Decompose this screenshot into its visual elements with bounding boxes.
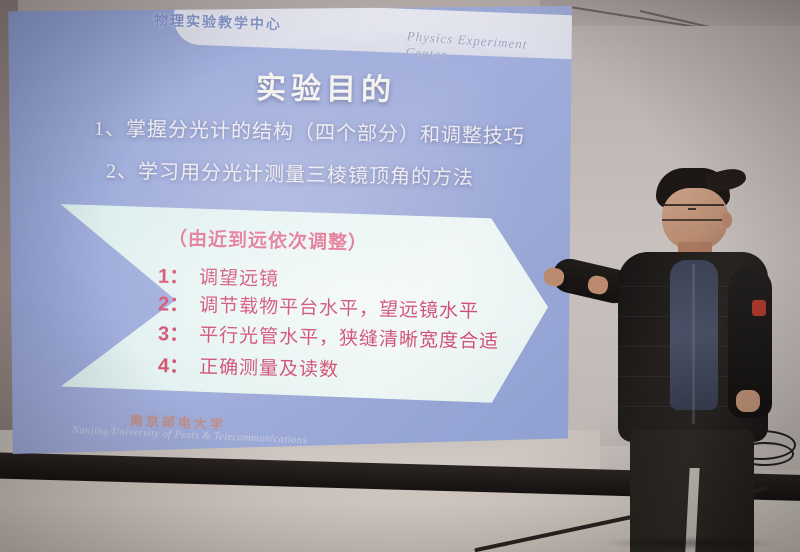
objective-1: 1、掌握分光计的结构（四个部分）和调整技巧 <box>94 112 525 149</box>
floor-shadow <box>600 536 780 550</box>
banner-heading: （由近到远依次调整） <box>168 224 369 256</box>
glasses-icon <box>662 204 724 221</box>
banner-step-4: 4： 正确测量及读数 <box>158 349 340 382</box>
banner-step-1-num: 1： <box>158 260 190 290</box>
banner-step-1: 1： 调望远镜 <box>158 260 280 292</box>
banner-step-1-text: 调望远镜 <box>199 263 280 292</box>
lecture-photo: 物理实验教学中心 Physics Experiment Center 实验目的 … <box>0 0 800 552</box>
banner-step-2-num: 2： <box>158 287 190 317</box>
banner-step-4-num: 4： <box>158 349 190 379</box>
presenter <box>596 168 774 552</box>
banner-step-3-num: 3： <box>158 317 190 347</box>
slide-header-cn: 物理实验教学中心 <box>154 10 283 35</box>
slide-title: 实验目的 <box>256 63 397 109</box>
presenter-ear <box>722 212 732 228</box>
jacket-zipper <box>692 264 695 424</box>
sleeve-patch <box>752 300 766 316</box>
projected-slide: 物理实验教学中心 Physics Experiment Center 实验目的 … <box>6 6 572 454</box>
presenter-right-hand <box>736 390 760 412</box>
banner-step-4-text: 正确测量及读数 <box>199 352 340 382</box>
objective-2: 2、学习用分光计测量三棱镜顶角的方法 <box>106 154 474 190</box>
